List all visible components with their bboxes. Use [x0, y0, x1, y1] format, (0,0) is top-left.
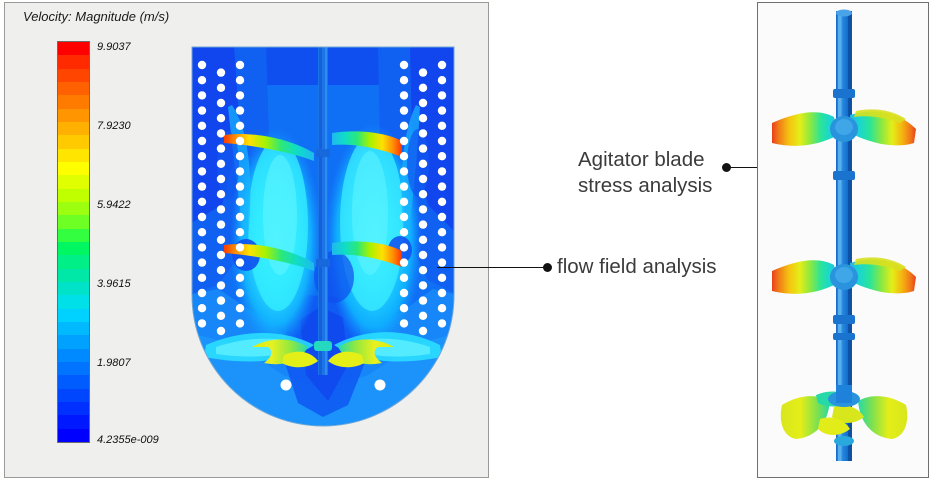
coil-dot	[236, 91, 244, 99]
coil-dot	[438, 76, 446, 84]
coil-dot	[438, 122, 446, 130]
coil-dot	[419, 114, 427, 122]
colorbar-band-22	[58, 335, 89, 348]
coil-dot	[198, 152, 206, 160]
coil-dot	[419, 281, 427, 289]
coil-dot	[217, 327, 225, 335]
coil-dot	[198, 61, 206, 69]
coil-dot	[236, 106, 244, 114]
coil-dot	[400, 198, 408, 206]
coil-dot	[400, 122, 408, 130]
colorbar-band-14	[58, 229, 89, 242]
coil-dot	[198, 243, 206, 251]
coil-dot	[217, 236, 225, 244]
colorbar-band-10	[58, 175, 89, 188]
colorbar-band-9	[58, 162, 89, 175]
agitator-stress-panel	[757, 2, 929, 478]
coil-dot	[400, 61, 408, 69]
velocity-magnitude-colorbar	[57, 41, 90, 443]
coil-dot	[217, 296, 225, 304]
agitator-shaft	[316, 45, 330, 375]
coil-dot	[438, 91, 446, 99]
colorbar-band-27	[58, 402, 89, 415]
coil-dot	[400, 258, 408, 266]
coil-dot	[198, 137, 206, 145]
coil-dot	[236, 213, 244, 221]
colorbar-tick-label-5: 4.2355e-009	[97, 434, 159, 446]
coil-dot	[217, 266, 225, 274]
coil-dot	[217, 281, 225, 289]
coil-dot	[217, 205, 225, 213]
callout-flow-field-analysis: flow field analysis	[557, 254, 717, 280]
flow-field-leader-line	[437, 267, 545, 268]
coil-dot	[438, 152, 446, 160]
coil-dot	[198, 274, 206, 282]
coil-dot	[217, 129, 225, 137]
agitator-stress-leader-dot	[722, 163, 731, 172]
colorbar-band-12	[58, 202, 89, 215]
colorbar-band-13	[58, 215, 89, 228]
nozzle-circle-right	[375, 380, 386, 391]
coil-dot	[419, 84, 427, 92]
coil-dot	[419, 99, 427, 107]
coil-dot	[236, 152, 244, 160]
coil-dot	[400, 213, 408, 221]
colorbar-band-18	[58, 282, 89, 295]
coil-dot	[419, 175, 427, 183]
coil-dot	[217, 144, 225, 152]
coil-dot	[236, 122, 244, 130]
coil-dot	[419, 220, 427, 228]
coil-dot	[198, 91, 206, 99]
coil-dot	[419, 251, 427, 259]
colorbar-band-24	[58, 362, 89, 375]
coil-dot	[217, 312, 225, 320]
coil-dot	[400, 76, 408, 84]
coil-dot	[400, 152, 408, 160]
colorbar-band-8	[58, 149, 89, 162]
coil-dot	[198, 258, 206, 266]
colorbar-band-20	[58, 309, 89, 322]
colorbar-band-23	[58, 349, 89, 362]
coil-dot	[419, 327, 427, 335]
colorbar-tick-label-4: 1.9807	[97, 357, 131, 369]
coil-dot	[438, 289, 446, 297]
coil-dot	[400, 319, 408, 327]
coil-dot	[400, 182, 408, 190]
stirred-tank-cross-section	[188, 45, 458, 459]
coil-dot	[400, 91, 408, 99]
coil-dot	[400, 274, 408, 282]
colorbar-group: 9.9037 7.9230 5.9422 3.9615 1.9807 4.235…	[57, 41, 177, 451]
coil-dot	[438, 243, 446, 251]
colorbar-tick-label-3: 3.9615	[97, 278, 131, 290]
colorbar-band-1	[58, 55, 89, 68]
colorbar-band-28	[58, 415, 89, 428]
coil-dot	[198, 167, 206, 175]
coil-dot	[198, 122, 206, 130]
colorbar-band-15	[58, 242, 89, 255]
coil-dot	[400, 106, 408, 114]
coil-dot	[419, 236, 427, 244]
coil-dot	[419, 296, 427, 304]
coil-dot	[198, 289, 206, 297]
coil-dot	[217, 114, 225, 122]
coil-dot	[236, 274, 244, 282]
coil-dot	[217, 220, 225, 228]
colorbar-band-16	[58, 255, 89, 268]
colorbar-band-0	[58, 42, 89, 55]
colorbar-band-4	[58, 95, 89, 108]
coil-dot	[400, 137, 408, 145]
coil-dot	[217, 160, 225, 168]
screenshot-root: Velocity: Magnitude (m/s) 9.9037 7.9230 …	[0, 0, 940, 488]
coil-dot	[198, 319, 206, 327]
coil-dot	[419, 68, 427, 76]
coil-dot	[419, 160, 427, 168]
coil-dot	[419, 129, 427, 137]
cfd-flow-field-panel: Velocity: Magnitude (m/s) 9.9037 7.9230 …	[4, 2, 489, 478]
coil-dot	[419, 205, 427, 213]
coil-dot	[236, 76, 244, 84]
coil-dot	[236, 319, 244, 327]
coil-dot	[400, 243, 408, 251]
coil-dot	[419, 190, 427, 198]
colorbar-tick-label-0: 9.9037	[97, 41, 131, 53]
coil-dot	[236, 258, 244, 266]
coil-dot	[419, 312, 427, 320]
coil-dot	[438, 106, 446, 114]
coil-dot	[400, 304, 408, 312]
flow-field-leader-dot	[543, 263, 552, 272]
cfd-panel-title: Velocity: Magnitude (m/s)	[23, 9, 169, 24]
coil-dot	[438, 304, 446, 312]
coil-dot	[419, 144, 427, 152]
coil-dot	[236, 182, 244, 190]
colorbar-tick-label-1: 7.9230	[97, 120, 131, 132]
coil-dot	[217, 190, 225, 198]
coil-dot	[198, 106, 206, 114]
coil-dot	[400, 167, 408, 175]
coil-dot	[217, 99, 225, 107]
coil-dot	[438, 137, 446, 145]
nozzle-circle-left	[281, 380, 292, 391]
coil-dot	[236, 137, 244, 145]
coil-dot	[419, 266, 427, 274]
coil-dot	[198, 182, 206, 190]
coil-dot	[198, 304, 206, 312]
coil-dot	[438, 319, 446, 327]
coil-dot	[198, 228, 206, 236]
coil-dot	[236, 61, 244, 69]
coil-dot	[400, 289, 408, 297]
coil-dot	[198, 76, 206, 84]
colorbar-band-26	[58, 389, 89, 402]
coil-dot	[400, 228, 408, 236]
coil-dot	[438, 167, 446, 175]
coil-dot	[438, 61, 446, 69]
callout-agitator-stress-line-1: Agitator blade	[578, 147, 705, 173]
coil-dot	[217, 175, 225, 183]
coil-dot	[217, 68, 225, 76]
colorbar-band-29	[58, 429, 89, 442]
colorbar-band-21	[58, 322, 89, 335]
coil-dot	[198, 198, 206, 206]
colorbar-band-25	[58, 375, 89, 388]
coil-dot	[198, 213, 206, 221]
coil-dot	[217, 251, 225, 259]
colorbar-band-2	[58, 69, 89, 82]
velocity-contour-field	[188, 45, 458, 459]
coil-dot	[236, 167, 244, 175]
coil-dot	[438, 274, 446, 282]
coil-dot	[438, 258, 446, 266]
coil-dot	[236, 228, 244, 236]
coil-dot	[217, 84, 225, 92]
coil-dot	[438, 198, 446, 206]
colorbar-band-6	[58, 122, 89, 135]
coil-dot	[438, 213, 446, 221]
coil-dot	[236, 198, 244, 206]
colorbar-tick-label-2: 5.9422	[97, 199, 131, 211]
coil-dot	[438, 182, 446, 190]
colorbar-band-11	[58, 189, 89, 202]
coil-dot	[438, 228, 446, 236]
colorbar-band-3	[58, 82, 89, 95]
coil-dot	[236, 304, 244, 312]
coil-dot	[236, 243, 244, 251]
colorbar-band-19	[58, 295, 89, 308]
coil-dot	[236, 289, 244, 297]
callout-agitator-stress-line-2: stress analysis	[578, 173, 712, 199]
colorbar-band-7	[58, 135, 89, 148]
colorbar-band-17	[58, 269, 89, 282]
colorbar-band-5	[58, 109, 89, 122]
